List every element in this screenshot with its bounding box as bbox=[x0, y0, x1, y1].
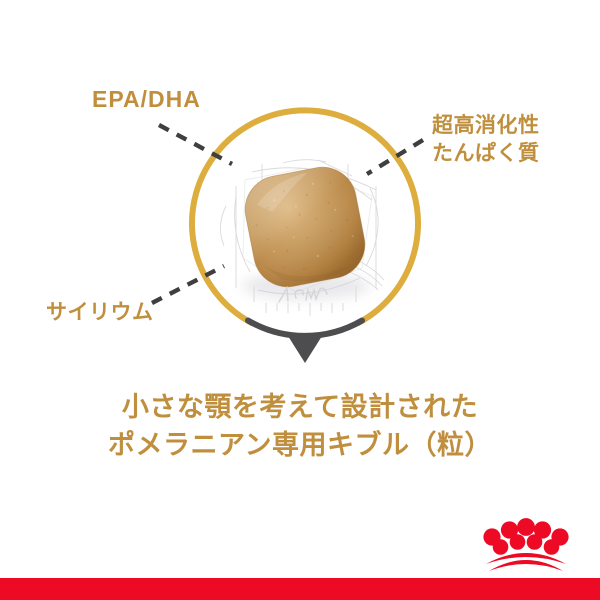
bottom-brand-bar bbox=[0, 578, 600, 600]
kibble-illustration bbox=[239, 161, 370, 300]
infographic-page: EPA/DHA サイリウム 超高消化性 たんぱく質 小さな顎を考えて設計された … bbox=[0, 0, 600, 600]
callout-label-epa-dha: EPA/DHA bbox=[92, 86, 201, 113]
caption-line-1: 小さな顎を考えて設計された bbox=[0, 388, 600, 426]
callout-label-protein: 超高消化性 たんぱく質 bbox=[432, 112, 540, 167]
royal-canin-crown-logo bbox=[481, 514, 571, 572]
crown-icon bbox=[483, 518, 568, 571]
pointer-triangle bbox=[288, 336, 322, 363]
callout-label-psyllium: サイリウム bbox=[46, 301, 154, 326]
caption-line-2: ポメラニアン専用キブル（粒） bbox=[0, 426, 600, 464]
caption-block: 小さな顎を考えて設計された ポメラニアン専用キブル（粒） bbox=[0, 388, 600, 465]
